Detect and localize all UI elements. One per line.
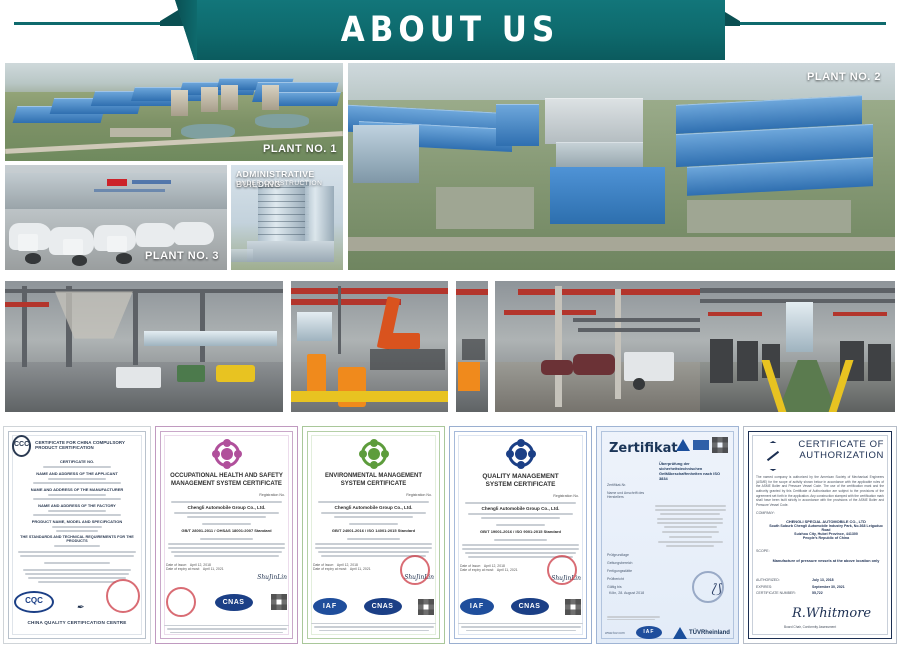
- cnas-logo-icon: CNAS: [364, 598, 402, 615]
- certificate-field-1: NAME AND ADDRESS OF THE APPLICANT: [14, 471, 140, 476]
- red-seal-stamp: [547, 555, 577, 585]
- cnas-logo-icon: CNAS: [215, 594, 253, 611]
- banner-rule-left: [14, 22, 164, 25]
- qr-code-icon: [712, 437, 728, 453]
- certificate-field-5: THE STANDARDS AND TECHNICAL REQUIREMENTS…: [14, 535, 140, 543]
- iaf-logo-icon: IAF: [313, 598, 347, 615]
- certificate-ccc[interactable]: CCC CERTIFICATE FOR CHINA COMPULSORY PRO…: [3, 426, 151, 644]
- embossed-seal: [692, 571, 724, 603]
- certificate-field-4: Fertigungsstätte: [607, 569, 653, 573]
- company-address-1: South Suburb Chengli Automobile Industry…: [768, 524, 884, 532]
- certificate-field-2: Prüfgrundlage: [607, 553, 653, 557]
- issue-place-date: Köln, 28. August 2018: [609, 591, 644, 595]
- qr-code-icon: [418, 599, 434, 615]
- cqc-logo-icon: CQC: [14, 591, 54, 613]
- company-label: COMPANY:: [756, 511, 775, 515]
- certificate-field-6: Gültig bis: [607, 585, 653, 589]
- red-seal-stamp: [106, 579, 140, 613]
- parking-lot: [436, 187, 534, 228]
- certificate-field-0: CERTIFICATE NO.: [14, 459, 140, 464]
- photo-welding-robot-cell-edge: [456, 281, 488, 412]
- certificate-number: 55,722: [812, 590, 823, 597]
- photo-truck-fleet-plant-3: PLANT NO. 3: [5, 165, 227, 270]
- certificate-number-label: CERTIFICATE NUMBER:: [756, 590, 812, 597]
- road: [348, 237, 895, 251]
- company-logo-mark: [107, 179, 127, 186]
- certificate-field-1: Name und Anschrift des Herstellers: [607, 491, 653, 500]
- tuv-badge-icon: [693, 440, 709, 450]
- signature: R.Whitmore: [792, 606, 871, 621]
- office-block: [201, 87, 218, 112]
- certificate-issuer: TÜVRheinland: [689, 630, 730, 636]
- issuer-url: www.tuv.com: [605, 631, 625, 635]
- certificate-iso14001[interactable]: ENVIRONMENTAL MANAGEMENT SYSTEM CERTIFIC…: [302, 426, 445, 644]
- photo-aerial-plant-2: PLANT NO. 2: [348, 63, 895, 270]
- photo-caption-sub: UNDER CONSTRUCTION: [236, 180, 322, 187]
- photo-assembly-line-overhead-conveyor: [5, 281, 283, 412]
- tuv-triangle-icon: [673, 627, 687, 639]
- certificate-field-3: NAME AND ADDRESS OF THE FACTORY: [14, 503, 140, 508]
- photo-tanker-truck-assembly-hall: [495, 281, 725, 412]
- banner-ribbon: ABOUT US: [175, 0, 725, 60]
- certificate-asme-authorization[interactable]: CERTIFICATE OF AUTHORIZATION The named c…: [743, 426, 897, 644]
- page-title: ABOUT US: [341, 10, 560, 50]
- red-seal-stamp: [166, 587, 196, 617]
- company-address-3: People's Republic of China: [768, 536, 884, 540]
- qr-code-icon: [565, 599, 581, 615]
- about-us-page: ABOUT US PLANT NO. 1: [0, 0, 900, 647]
- certificate-title: CERTIFICATE FOR CHINA COMPULSORY PRODUCT…: [35, 441, 142, 451]
- iso-flower-icon: [508, 441, 534, 467]
- photo-aerial-plant-1: PLANT NO. 1: [5, 63, 343, 161]
- iaf-logo-icon: IAF: [460, 598, 494, 615]
- authorized-date: July 13, 2018: [812, 577, 834, 584]
- office-block: [262, 85, 279, 110]
- certificate-ohsas[interactable]: OCCUPATIONAL HEALTH AND SAFETY MANAGEMEN…: [155, 426, 298, 644]
- iso-flower-icon: [214, 441, 240, 467]
- tower-wing: [305, 186, 334, 247]
- tuv-triangle-icon: [676, 439, 690, 451]
- expires-label: EXPIRES:: [756, 584, 812, 591]
- certificate-scope: Manufacture of pressure vessels at the a…: [768, 559, 884, 563]
- photo-administrative-building: ADMINISTRATIVE BUILDING UNDER CONSTRUCTI…: [231, 165, 343, 270]
- certificate-field-0: Zertifikat-Nr.: [607, 483, 653, 487]
- office-tower: [353, 125, 419, 183]
- pond: [255, 114, 309, 128]
- photo-caption: PLANT NO. 3: [145, 250, 219, 262]
- certificate-tuv-zertifikat[interactable]: Zertifikat Überprüfung der sicherheitste…: [596, 426, 739, 644]
- expires-date: September 30, 2021: [812, 584, 845, 591]
- office-block: [171, 90, 188, 115]
- tower-podium: [247, 241, 334, 262]
- cnas-logo-icon: CNAS: [511, 598, 549, 615]
- certificate-field-3: Geltungsbereich: [607, 561, 653, 565]
- parking-lot: [687, 200, 851, 233]
- page-banner: ABOUT US: [0, 0, 900, 60]
- certificate-title: Zertifikat: [609, 441, 678, 456]
- photo-caption: PLANT NO. 1: [263, 143, 337, 155]
- certificate-iso9001[interactable]: QUALITY MANAGEMENT SYSTEM CERTIFICATE Re…: [449, 426, 592, 644]
- office-block: [221, 85, 238, 110]
- photo-welding-robot-cell: [291, 281, 448, 412]
- authorized-label: AUTHORIZED:: [756, 577, 812, 584]
- certificate-title-2: AUTHORIZATION: [798, 450, 884, 461]
- qr-code-icon: [271, 594, 287, 610]
- signature-role: Board Chair, Conformity Assessment: [784, 625, 836, 629]
- mixer-truck: [174, 222, 214, 245]
- blue-headquarters: [550, 167, 665, 225]
- banner-rule-right: [736, 22, 886, 25]
- photo-caption: PLANT NO. 2: [807, 71, 881, 83]
- mixer-truck: [136, 223, 176, 247]
- certificate-field-4: PRODUCT NAME, MODEL AND SPECIFICATION: [14, 519, 140, 524]
- tower-highrise: [258, 182, 310, 249]
- scope-label: SCOPE:: [756, 549, 770, 553]
- certificate-field-5: Prüfbericht: [607, 577, 653, 581]
- ccc-logo-icon: CCC: [12, 435, 31, 457]
- parking-lot: [110, 128, 171, 138]
- iso-flower-icon: [361, 441, 387, 467]
- photo-painting-and-finishing-shop: [700, 281, 895, 412]
- certificate-title: CERTIFICATE OF: [798, 439, 884, 450]
- certificate-subtitle: Überprüfung der sicherheitstechnischen G…: [659, 461, 728, 481]
- iaf-logo-icon: IAF: [636, 626, 662, 639]
- signature: ✒: [76, 603, 84, 613]
- red-seal-stamp: [400, 555, 430, 585]
- certificate-body: The named company is authorized by the A…: [756, 475, 884, 507]
- company-wordmark: [132, 180, 172, 184]
- certificate-issuer: CHINA QUALITY CERTIFICATION CENTRE: [4, 620, 150, 625]
- certificate-field-2: NAME AND ADDRESS OF THE MANUFACTURER: [14, 487, 140, 492]
